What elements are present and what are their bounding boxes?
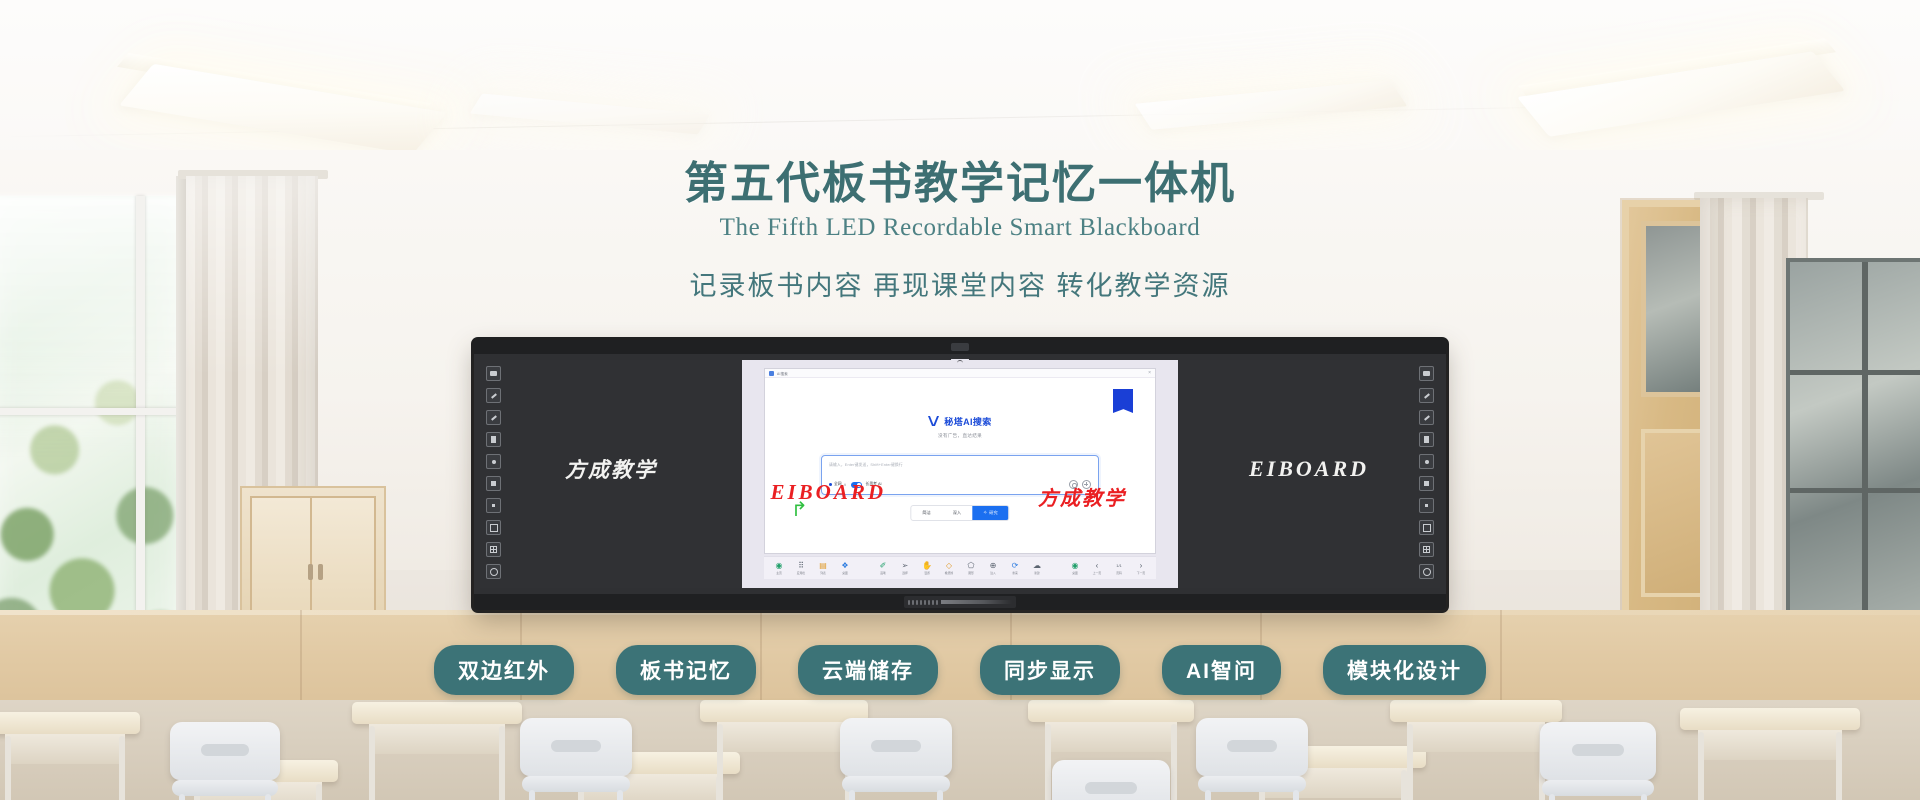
- prev-label: 上一页: [1093, 571, 1101, 575]
- list-label: 列表: [820, 571, 826, 575]
- refresh-glyph: ⟳: [1012, 562, 1019, 570]
- blackboard-right-button-strip[interactable]: [1419, 366, 1434, 579]
- next-icon[interactable]: › 下一页: [1130, 562, 1152, 575]
- page-count-label: 页码: [1116, 571, 1122, 575]
- cursor-icon[interactable]: ➢ 选择: [894, 562, 916, 575]
- page-button[interactable]: [486, 432, 501, 447]
- hero-headings: 第五代板书教学记忆一体机 The Fifth LED Recordable Sm…: [0, 160, 1920, 303]
- red-handwriting-cn: 方成教学: [1038, 482, 1126, 511]
- page-tagline: 记录板书内容 再现课堂内容 转化教学资源: [0, 264, 1920, 303]
- cursor-label: 选择: [902, 571, 908, 575]
- pen-label: 画笔: [880, 571, 886, 575]
- mode-label-research: 研究: [989, 510, 997, 516]
- smart-blackboard: 方成教学 EIBOARD: [474, 340, 1446, 610]
- blackboard-left-button-strip[interactable]: [486, 366, 501, 579]
- eraser-glyph: ◇: [946, 562, 952, 570]
- grid-apps-label: 应用栏: [797, 571, 805, 575]
- window-mullion-horizontal: [0, 408, 184, 415]
- ai-search-window[interactable]: AI搜索 × 秘塔AI搜索 没有广告，直达结果 请输入，Enter键发送，Shi…: [764, 368, 1156, 554]
- blackboard-left-panel: 方成教学: [480, 360, 742, 588]
- pen-button[interactable]: [486, 388, 501, 403]
- toolbar-left-group[interactable]: ◉ 主页 ⠿ 应用栏 ▤ 列表 ❖ 桌面: [768, 562, 856, 575]
- grid-button[interactable]: [1419, 542, 1434, 557]
- hand-icon[interactable]: ✋ 漫游: [916, 562, 938, 575]
- next-glyph: ›: [1140, 562, 1143, 570]
- red-handwriting-en: EIBOARD: [770, 480, 886, 505]
- search-mode-buttons[interactable]: 简洁 深入 ✧ 研究: [910, 505, 1009, 521]
- feature-pill-dual-infrared[interactable]: 双边红外: [434, 645, 574, 695]
- sparkle-icon: ✧: [983, 510, 987, 516]
- window-title: AI搜索: [777, 371, 788, 376]
- small-square-button[interactable]: [486, 498, 501, 513]
- hand-label: 漫游: [924, 571, 930, 575]
- windows-label: 桌面: [842, 571, 848, 575]
- list-icon[interactable]: ▤ 列表: [812, 562, 834, 575]
- brand-tagline: 没有广告，直达结果: [765, 433, 1155, 439]
- mode-button-deep[interactable]: 深入: [942, 506, 972, 520]
- cloud-label: 新建: [1034, 571, 1040, 575]
- insert-glyph: ⊕: [990, 562, 997, 570]
- classroom-hero-scene: 第五代板书教学记忆一体机 The Fifth LED Recordable Sm…: [0, 0, 1920, 800]
- insert-label: 注入: [990, 571, 996, 575]
- handwriting-right: EIBOARD: [1178, 456, 1440, 482]
- handwriting-left: 方成教学: [480, 454, 742, 484]
- mode-button-concise[interactable]: 简洁: [911, 506, 941, 520]
- blackboard-nameplate: [904, 596, 1016, 608]
- frame-button[interactable]: [1419, 520, 1434, 535]
- pen2-button[interactable]: [1419, 410, 1434, 425]
- mode-button-research[interactable]: ✧ 研究: [972, 506, 1009, 520]
- hand-glyph: ✋: [922, 562, 932, 570]
- feature-pill-board-memory[interactable]: 板书记忆: [616, 645, 756, 695]
- page-title: 第五代板书教学记忆一体机: [0, 160, 1920, 208]
- target-glyph: ◉: [776, 562, 783, 570]
- feature-pill-ai-ask[interactable]: AI智问: [1162, 645, 1281, 695]
- shape-label: 图形: [968, 571, 974, 575]
- power-button[interactable]: [1419, 564, 1434, 579]
- app-favicon-icon: [769, 371, 774, 376]
- feature-pill-cloud-storage[interactable]: 云端储存: [798, 645, 938, 695]
- cloud-icon[interactable]: ☁ 新建: [1026, 562, 1048, 575]
- target-icon[interactable]: ◉ 主页: [768, 562, 790, 575]
- toolbar-right-group[interactable]: ◉ 桌面 ‹ 上一页 1/1 页码 › 下一页: [1064, 562, 1152, 575]
- feature-pill-modular-design[interactable]: 模块化设计: [1323, 645, 1486, 695]
- blackboard-right-panel: EIBOARD: [1178, 360, 1440, 588]
- pen2-button[interactable]: [486, 410, 501, 425]
- wainscot-top-trim: [0, 610, 1920, 615]
- shape-icon[interactable]: ⬠ 图形: [960, 562, 982, 575]
- monitor-button[interactable]: [486, 366, 501, 381]
- camera-icon: [951, 343, 969, 351]
- shape-glyph: ⬠: [968, 562, 975, 570]
- metaso-logo-icon: [928, 417, 941, 426]
- square-button[interactable]: [1419, 476, 1434, 491]
- right-window: [1786, 258, 1920, 638]
- next-label: 下一页: [1137, 571, 1145, 575]
- feature-pill-sync-display[interactable]: 同步显示: [980, 645, 1120, 695]
- blue-flag-graphic: [1113, 389, 1133, 413]
- windows-glyph: ❖: [841, 562, 848, 570]
- pen-glyph: ✐: [880, 562, 887, 570]
- page-subtitle-english: The Fifth LED Recordable Smart Blackboar…: [0, 214, 1920, 242]
- pen-icon[interactable]: ✐ 画笔: [872, 562, 894, 575]
- grid-button[interactable]: [486, 542, 501, 557]
- right-window-mullion-h1: [1790, 370, 1920, 375]
- dot-button[interactable]: [1419, 454, 1434, 469]
- toolbar-center-group[interactable]: ✐ 画笔 ➢ 选择 ✋ 漫游 ◇ 橡皮擦 ⬠ 图形: [872, 562, 1048, 575]
- target-label: 桌面: [1072, 571, 1078, 575]
- frame-button[interactable]: [486, 520, 501, 535]
- right-window-mullion-h2: [1790, 488, 1920, 493]
- prev-icon[interactable]: ‹ 上一页: [1086, 562, 1108, 575]
- close-icon[interactable]: ×: [1148, 371, 1151, 376]
- right-window-mullion-v: [1862, 262, 1868, 634]
- square-button[interactable]: [486, 476, 501, 491]
- target-glyph: ◉: [1072, 562, 1079, 570]
- blackboard-bottom-bezel: [474, 594, 1446, 610]
- grid-apps-icon[interactable]: ⠿ 应用栏: [790, 562, 812, 575]
- feature-pill-row: 双边红外 板书记忆 云端储存 同步显示 AI智问 模块化设计: [0, 645, 1920, 695]
- app-branding: 秘塔AI搜索 没有广告，直达结果: [765, 415, 1155, 439]
- refresh-icon[interactable]: ⟳ 重来: [1004, 562, 1026, 575]
- page-button[interactable]: [1419, 432, 1434, 447]
- window-titlebar: AI搜索 ×: [765, 369, 1155, 378]
- eraser-label: 橡皮擦: [945, 571, 953, 575]
- power-button[interactable]: [486, 564, 501, 579]
- windows-icon[interactable]: ❖ 桌面: [834, 562, 856, 575]
- insert-icon[interactable]: ⊕ 注入: [982, 562, 1004, 575]
- target-icon[interactable]: ◉ 桌面: [1064, 562, 1086, 575]
- list-glyph: ▤: [819, 562, 827, 570]
- cloud-glyph: ☁: [1033, 562, 1041, 570]
- grid-apps-glyph: ⠿: [798, 562, 804, 570]
- search-placeholder: 请输入，Enter键发送，Shift+Enter键换行: [829, 463, 903, 468]
- prev-glyph: ‹: [1096, 562, 1099, 570]
- cabinet-knob-right: [318, 564, 323, 580]
- small-square-button[interactable]: [1419, 498, 1434, 513]
- eraser-icon[interactable]: ◇ 橡皮擦: [938, 562, 960, 575]
- page-count-glyph: 1/1: [1116, 562, 1122, 570]
- screen-toolbar[interactable]: ◉ 主页 ⠿ 应用栏 ▤ 列表 ❖ 桌面 ✐ 画笔: [764, 556, 1156, 579]
- monitor-button[interactable]: [1419, 366, 1434, 381]
- cabinet-knob-left: [308, 564, 313, 580]
- page-count-icon: 1/1 页码: [1108, 562, 1130, 575]
- refresh-label: 重来: [1012, 571, 1018, 575]
- target-label: 主页: [776, 571, 782, 575]
- dot-button[interactable]: [486, 454, 501, 469]
- pen-button[interactable]: [1419, 388, 1434, 403]
- brand-name: 秘塔AI搜索: [944, 415, 991, 428]
- screen-notch: [951, 359, 969, 365]
- blackboard-top-bezel: [474, 340, 1446, 354]
- cursor-glyph: ➢: [902, 562, 909, 570]
- blackboard-display-screen[interactable]: AI搜索 × 秘塔AI搜索 没有广告，直达结果 请输入，Enter键发送，Shi…: [742, 360, 1178, 588]
